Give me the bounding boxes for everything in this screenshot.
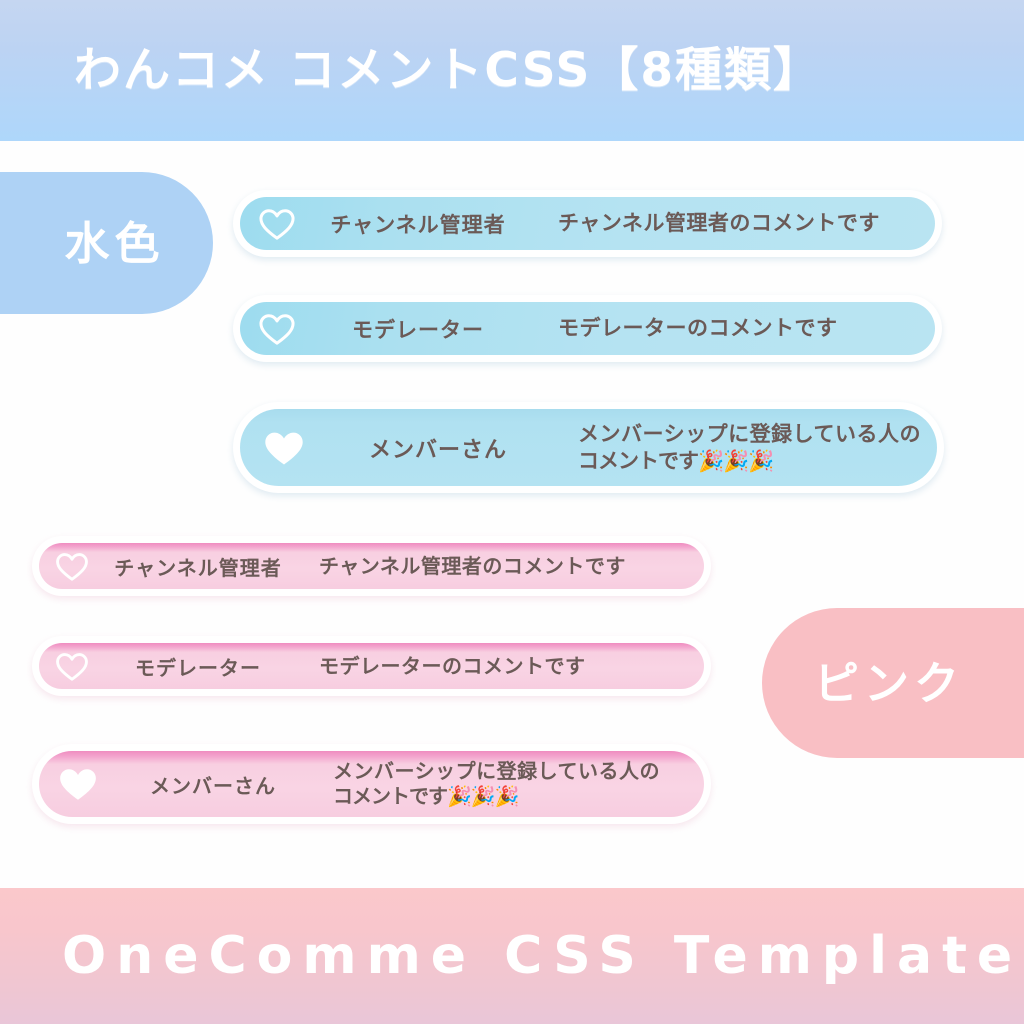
comment-author-name: メンバーさん <box>320 432 556 464</box>
comment-bubble-blue-moderator: モデレーター モデレーターのコメントです <box>233 295 942 362</box>
heart-filled-icon <box>262 428 306 468</box>
comment-author-name: モデレーター <box>95 652 301 681</box>
comment-message-line: コメントです🎉🎉🎉 <box>578 448 921 474</box>
comment-bubble-blue-member: メンバーさん メンバーシップに登録している人の コメントです🎉🎉🎉 <box>233 402 944 493</box>
comment-message: モデレーターのコメントです <box>319 654 586 679</box>
page-title: わんコメ コメントCSS【8種類】 <box>74 47 822 94</box>
heart-outline-icon <box>55 651 89 682</box>
heart-outline-icon <box>258 312 296 346</box>
comment-message-line: チャンネル管理者のコメントです <box>319 554 626 579</box>
comment-message-line: コメントです🎉🎉🎉 <box>333 784 660 809</box>
section-tag-pink-label: ピンク <box>814 661 964 706</box>
comment-message-line: モデレーターのコメントです <box>319 654 586 679</box>
comment-author-name: モデレーター <box>306 314 530 344</box>
comment-bubble-pink-moderator: モデレーター モデレーターのコメントです <box>32 636 711 696</box>
comment-bubble-blue-owner: チャンネル管理者 チャンネル管理者のコメントです <box>233 190 942 257</box>
header-banner: わんコメ コメントCSS【8種類】 <box>0 0 1024 141</box>
comment-bubble-body: モデレーター モデレーターのコメントです <box>39 643 704 689</box>
comment-author-name: チャンネル管理者 <box>306 209 530 239</box>
poster-canvas: わんコメ コメントCSS【8種類】 水色 チャンネル管理者 チャンネル管理者のコ… <box>0 0 1024 1024</box>
comment-message: メンバーシップに登録している人の コメントです🎉🎉🎉 <box>333 759 660 809</box>
comment-message: チャンネル管理者のコメントです <box>558 210 880 236</box>
comment-message-line: チャンネル管理者のコメントです <box>558 210 880 236</box>
comment-bubble-body: モデレーター モデレーターのコメントです <box>240 302 935 355</box>
comment-bubble-pink-member: メンバーさん メンバーシップに登録している人の コメントです🎉🎉🎉 <box>32 744 711 824</box>
comment-message-line: モデレーターのコメントです <box>558 315 838 341</box>
comment-bubble-body: メンバーさん メンバーシップに登録している人の コメントです🎉🎉🎉 <box>39 751 704 817</box>
heart-outline-icon <box>55 551 89 582</box>
heart-outline-icon <box>258 207 296 241</box>
comment-message: モデレーターのコメントです <box>558 315 838 341</box>
comment-author-name: メンバーさん <box>107 770 319 799</box>
footer-title: OneComme CSS Template <box>62 930 1022 982</box>
comment-bubble-pink-owner: チャンネル管理者 チャンネル管理者のコメントです <box>32 536 711 596</box>
comment-bubble-body: メンバーさん メンバーシップに登録している人の コメントです🎉🎉🎉 <box>240 409 937 486</box>
comment-author-name: チャンネル管理者 <box>95 552 301 581</box>
comment-bubble-body: チャンネル管理者 チャンネル管理者のコメントです <box>39 543 704 589</box>
comment-message: メンバーシップに登録している人の コメントです🎉🎉🎉 <box>578 421 921 474</box>
section-tag-blue-label: 水色 <box>64 221 164 266</box>
heart-filled-icon <box>57 765 99 803</box>
section-tag-pink: ピンク <box>762 608 1024 758</box>
comment-bubble-body: チャンネル管理者 チャンネル管理者のコメントです <box>240 197 935 250</box>
comment-message-line: メンバーシップに登録している人の <box>578 421 921 447</box>
comment-message-line: メンバーシップに登録している人の <box>333 759 660 784</box>
footer-banner: OneComme CSS Template <box>0 888 1024 1024</box>
comment-message: チャンネル管理者のコメントです <box>319 554 626 579</box>
section-tag-blue: 水色 <box>0 172 213 314</box>
